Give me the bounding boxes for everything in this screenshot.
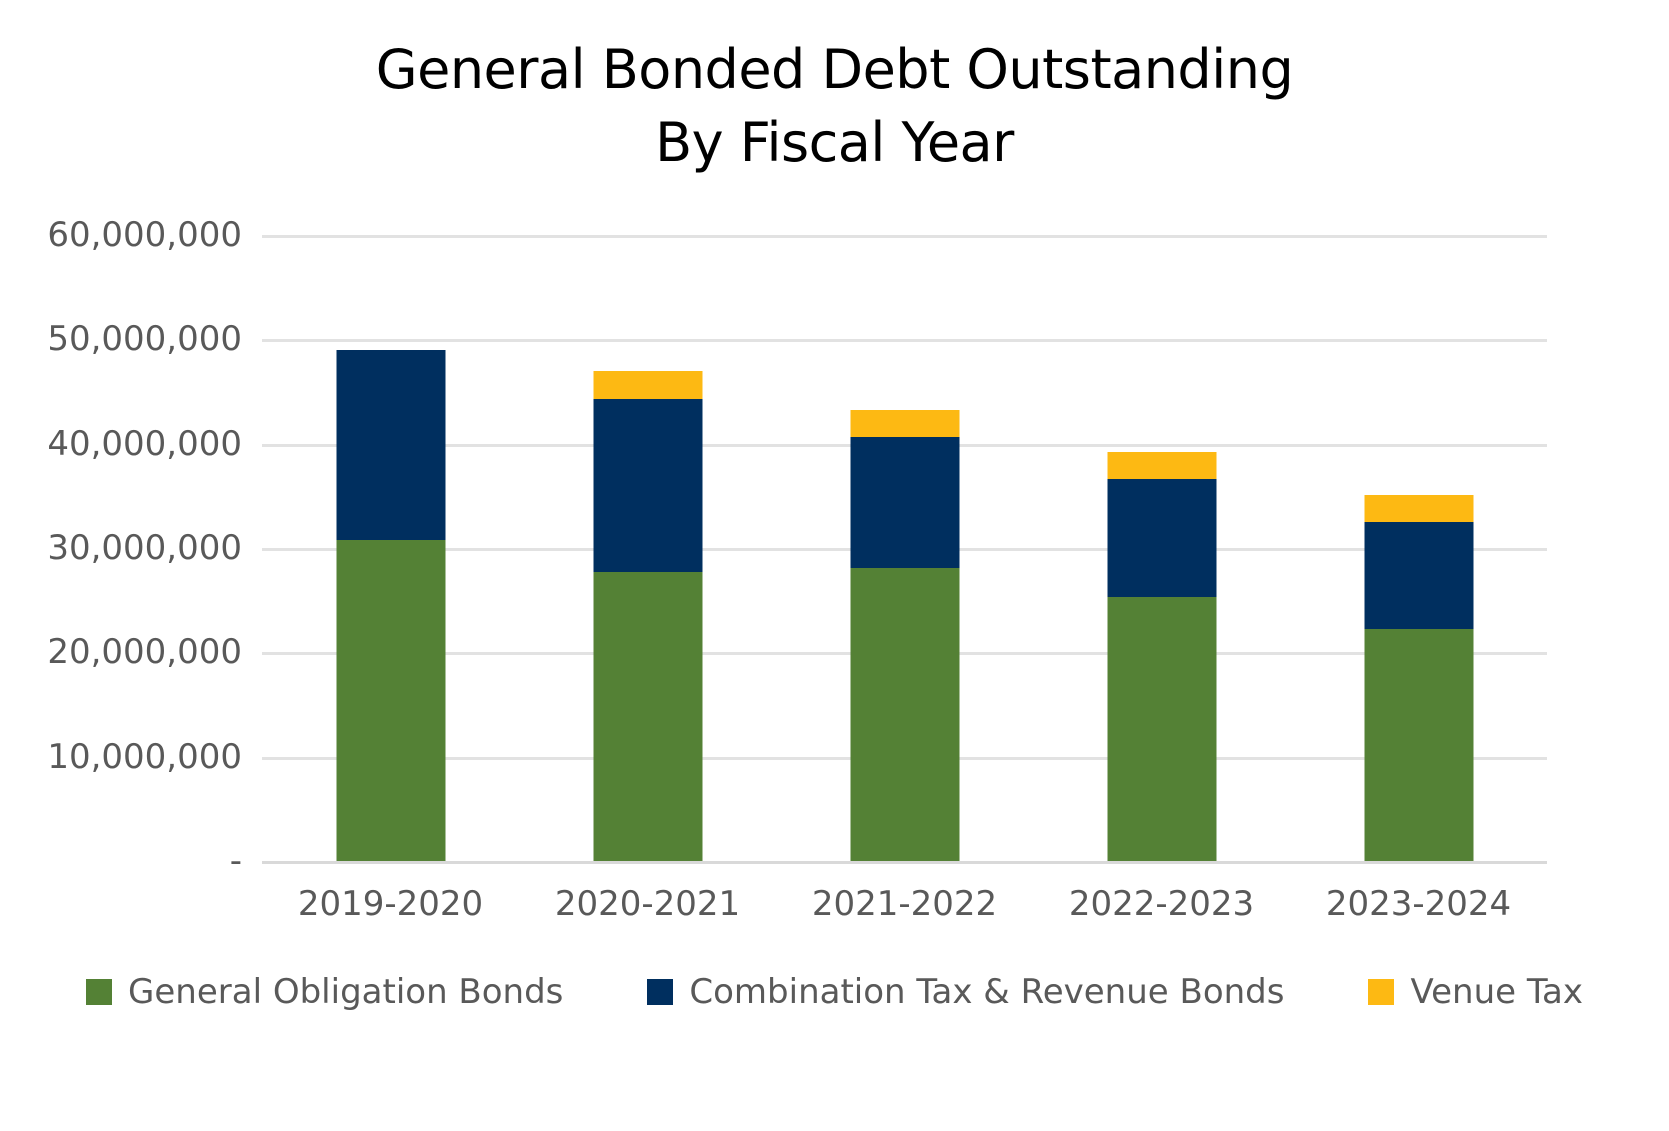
bar-segment[interactable]	[336, 350, 445, 540]
bar-segment[interactable]	[593, 371, 702, 399]
bar-group[interactable]	[1033, 235, 1290, 861]
legend-swatch-icon	[647, 979, 673, 1005]
chart-title: General Bonded Debt Outstanding By Fisca…	[0, 34, 1669, 180]
y-axis-tick-label: 20,000,000	[22, 632, 242, 672]
chart-title-line2: By Fiscal Year	[0, 107, 1669, 180]
bar-group[interactable]	[776, 235, 1033, 861]
bar-series-group	[262, 235, 1547, 861]
chart-title-line1: General Bonded Debt Outstanding	[376, 38, 1293, 101]
bar-stack	[1364, 495, 1473, 861]
y-axis-tick-label: -	[22, 841, 242, 881]
x-axis-tick-label: 2022-2023	[1069, 884, 1254, 924]
x-axis-line	[262, 861, 1547, 864]
bar-segment[interactable]	[1107, 479, 1216, 597]
bar-stack	[1107, 452, 1216, 861]
chart-legend: General Obligation BondsCombination Tax …	[0, 972, 1669, 1012]
bar-stack	[850, 410, 959, 861]
bar-segment[interactable]	[1364, 522, 1473, 629]
bar-stack	[593, 371, 702, 861]
legend-item[interactable]: Venue Tax	[1368, 972, 1582, 1012]
bar-segment[interactable]	[593, 572, 702, 861]
bar-segment[interactable]	[850, 568, 959, 861]
bar-group[interactable]	[519, 235, 776, 861]
x-axis-tick-label: 2021-2022	[812, 884, 997, 924]
bar-group[interactable]	[1290, 235, 1547, 861]
bar-group[interactable]	[262, 235, 519, 861]
y-axis-tick-label: 30,000,000	[22, 528, 242, 568]
x-axis-tick-label: 2020-2021	[555, 884, 740, 924]
bar-segment[interactable]	[850, 410, 959, 437]
y-axis-tick-label: 60,000,000	[22, 215, 242, 255]
bar-segment[interactable]	[850, 437, 959, 567]
y-axis-tick-label: 40,000,000	[22, 424, 242, 464]
bar-segment[interactable]	[1107, 597, 1216, 861]
bar-segment[interactable]	[336, 540, 445, 861]
x-axis-tick-label: 2023-2024	[1326, 884, 1511, 924]
legend-item[interactable]: Combination Tax & Revenue Bonds	[647, 972, 1284, 1012]
x-axis-tick-label: 2019-2020	[298, 884, 483, 924]
y-axis-tick-label: 50,000,000	[22, 319, 242, 359]
legend-item[interactable]: General Obligation Bonds	[86, 972, 563, 1012]
legend-swatch-icon	[1368, 979, 1394, 1005]
y-axis-tick-label: 10,000,000	[22, 737, 242, 777]
bar-stack	[336, 350, 445, 861]
bar-segment[interactable]	[1364, 495, 1473, 522]
legend-swatch-icon	[86, 979, 112, 1005]
bar-segment[interactable]	[1364, 629, 1473, 861]
chart-container: General Bonded Debt Outstanding By Fisca…	[0, 0, 1669, 1131]
bar-segment[interactable]	[1107, 452, 1216, 479]
legend-label: Venue Tax	[1410, 972, 1582, 1012]
legend-label: General Obligation Bonds	[128, 972, 563, 1012]
bar-segment[interactable]	[593, 399, 702, 572]
legend-label: Combination Tax & Revenue Bonds	[689, 972, 1284, 1012]
